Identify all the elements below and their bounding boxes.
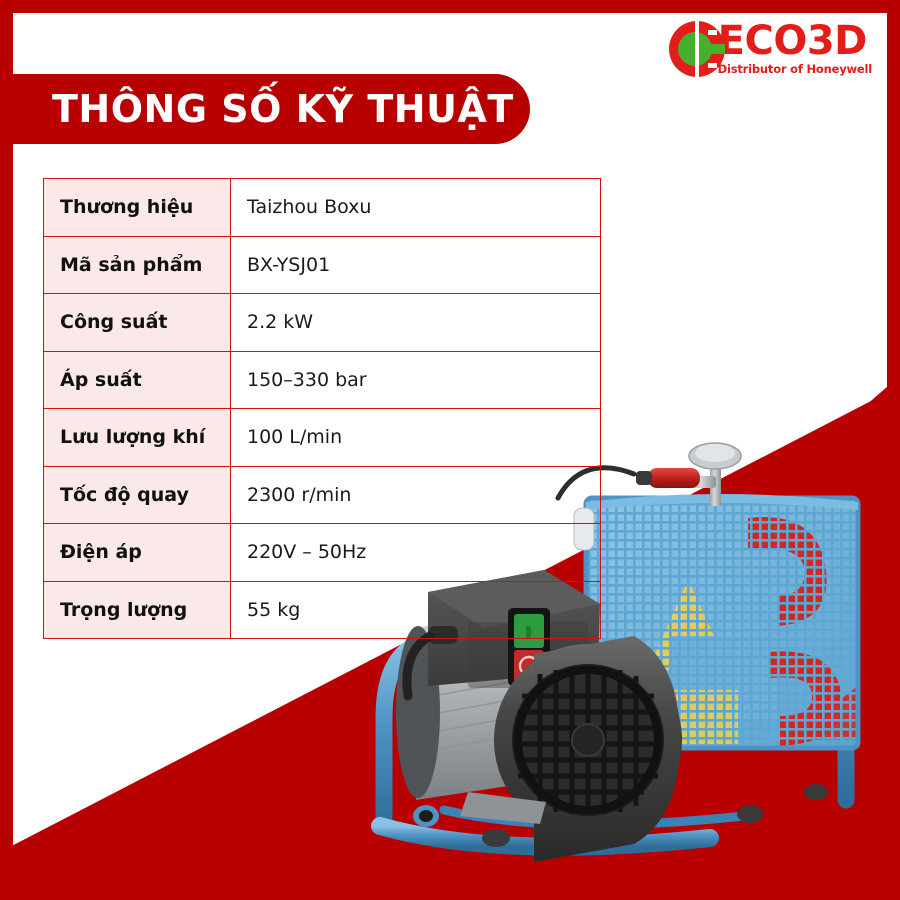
table-row: Điện áp 220V – 50Hz (44, 524, 601, 582)
eco3d-circle-logo-icon (668, 20, 726, 78)
spec-label: Điện áp (44, 524, 231, 582)
spec-value: 55 kg (231, 581, 601, 639)
brand-logo: ECO3D Distributor of Honeywell (668, 18, 872, 80)
page-title: THÔNG SỐ KỸ THUẬT (0, 87, 514, 131)
frame-border-top (0, 0, 900, 13)
spec-label: Mã sản phẩm (44, 236, 231, 294)
table-row: Lưu lượng khí 100 L/min (44, 409, 601, 467)
table-row: Trọng lượng 55 kg (44, 581, 601, 639)
frame-border-left (0, 0, 13, 900)
spec-label: Áp suất (44, 351, 231, 409)
spec-value: 2.2 kW (231, 294, 601, 352)
spec-value: 100 L/min (231, 409, 601, 467)
title-banner: THÔNG SỐ KỸ THUẬT (0, 74, 530, 144)
frame-border-bottom (0, 887, 900, 900)
spec-label: Tốc độ quay (44, 466, 231, 524)
table-row: Công suất 2.2 kW (44, 294, 601, 352)
table-row: Mã sản phẩm BX-YSJ01 (44, 236, 601, 294)
frame-border-right (887, 0, 900, 900)
spec-table-body: Thương hiệu Taizhou Boxu Mã sản phẩm BX-… (44, 179, 601, 639)
spec-label: Công suất (44, 294, 231, 352)
spec-label: Lưu lượng khí (44, 409, 231, 467)
logo-tagline: Distributor of Honeywell (718, 62, 872, 76)
table-row: Thương hiệu Taizhou Boxu (44, 179, 601, 237)
specification-table: Thương hiệu Taizhou Boxu Mã sản phẩm BX-… (43, 178, 601, 639)
spec-value: 220V – 50Hz (231, 524, 601, 582)
table-row: Áp suất 150–330 bar (44, 351, 601, 409)
poster-canvas: THÔNG SỐ KỸ THUẬT ECO3D Distributor of H… (0, 0, 900, 900)
table-row: Tốc độ quay 2300 r/min (44, 466, 601, 524)
logo-wordmark: ECO3D (718, 22, 872, 60)
spec-value: 2300 r/min (231, 466, 601, 524)
spec-value: Taizhou Boxu (231, 179, 601, 237)
spec-label: Thương hiệu (44, 179, 231, 237)
spec-value: 150–330 bar (231, 351, 601, 409)
spec-label: Trọng lượng (44, 581, 231, 639)
spec-value: BX-YSJ01 (231, 236, 601, 294)
